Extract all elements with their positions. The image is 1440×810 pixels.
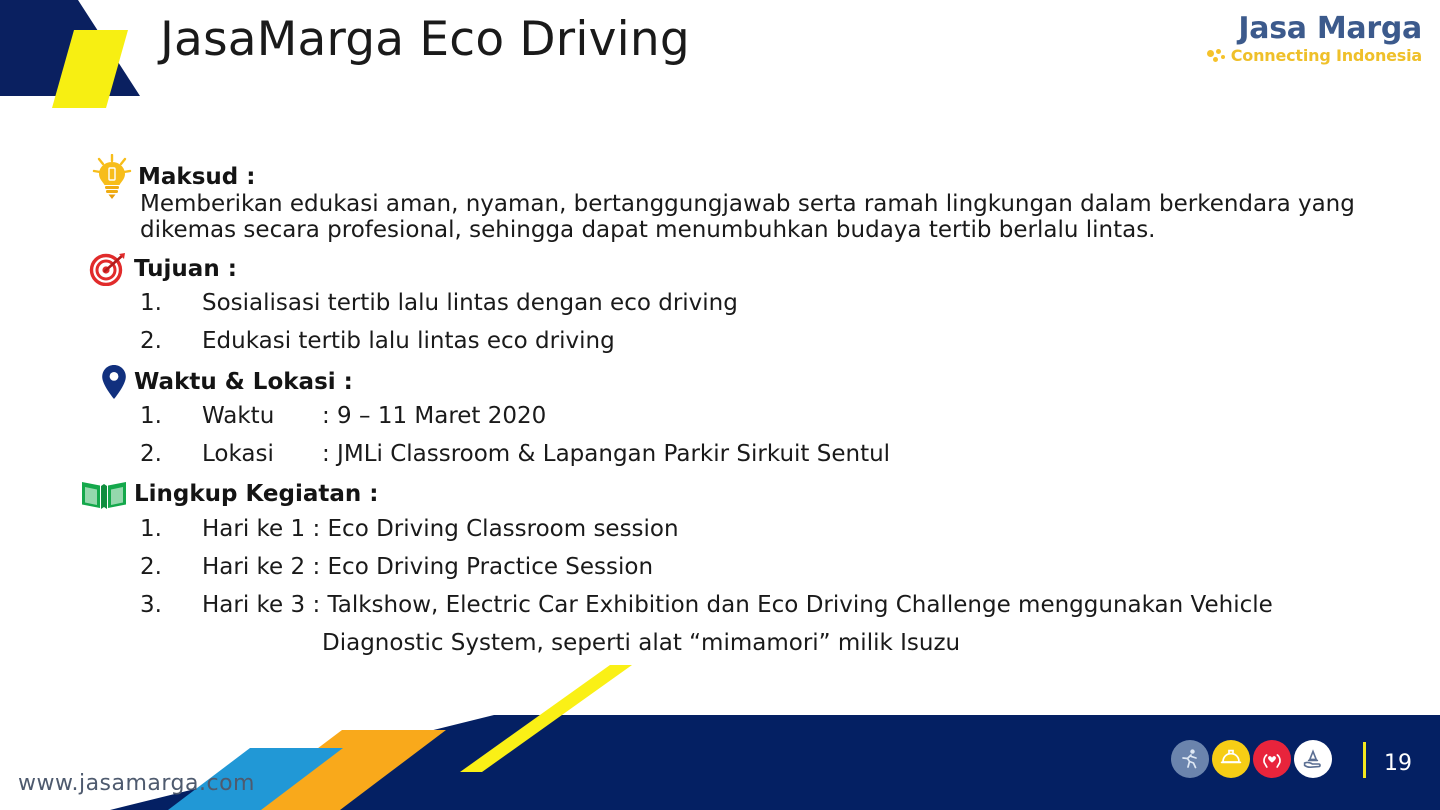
slide-content: Maksud : Memberikan edukasi aman, nyaman… — [0, 96, 1440, 666]
page-title: JasaMarga Eco Driving — [160, 12, 690, 67]
list-item-text: Hari ke 3 : Talkshow, Electric Car Exhib… — [202, 592, 1273, 618]
list-item-text: Edukasi tertib lalu lintas eco driving — [202, 328, 615, 354]
list-item-number: 2. — [140, 328, 202, 354]
maksud-paragraph-line2: dikemas secara profesional, sehingga dap… — [140, 218, 1380, 244]
footer-website-url[interactable]: www.jasamarga.com — [18, 771, 255, 796]
logo-wordmark: Jasa Marga — [1207, 14, 1422, 44]
footer-badge-group — [1171, 740, 1332, 778]
list-item-number: 2. — [140, 441, 202, 467]
maksud-paragraph: Memberikan edukasi aman, nyaman, bertang… — [140, 192, 1380, 244]
list-item-number: 1. — [140, 403, 202, 429]
list-item: 2. Edukasi tertib lalu lintas eco drivin… — [140, 328, 1400, 366]
slide-header: JasaMarga Eco Driving Jasa Marga Connect… — [0, 0, 1440, 96]
list-item-text: Sosialisasi tertib lalu lintas dengan ec… — [202, 290, 738, 316]
list-item-key: Lokasi — [202, 441, 322, 467]
list-item: 1. Waktu : 9 – 11 Maret 2020 — [140, 403, 1400, 441]
waktu-lokasi-list: 1. Waktu : 9 – 11 Maret 2020 2. Lokasi :… — [140, 403, 1400, 479]
list-item-continuation: Diagnostic System, seperti alat “mimamor… — [140, 630, 1400, 668]
hard-hat-badge-icon — [1212, 740, 1250, 778]
section-heading-waktu-lokasi: Waktu & Lokasi : — [100, 364, 353, 400]
list-item: 3. Hari ke 3 : Talkshow, Electric Car Ex… — [140, 592, 1400, 630]
list-item-value: : 9 – 11 Maret 2020 — [322, 403, 546, 429]
section-heading-lingkup: Lingkup Kegiatan : — [80, 478, 379, 510]
list-item: 1. Hari ke 1 : Eco Driving Classroom ses… — [140, 516, 1400, 554]
heart-in-hands-badge-icon — [1253, 740, 1291, 778]
list-item-text: Hari ke 2 : Eco Driving Practice Session — [202, 554, 653, 580]
footer-divider — [1363, 742, 1366, 778]
slide-footer: www.jasamarga.com — [0, 665, 1440, 810]
list-item-text: Hari ke 1 : Eco Driving Classroom sessio… — [202, 516, 679, 542]
hand-cone-badge-icon — [1294, 740, 1332, 778]
section-label-maksud: Maksud : — [138, 164, 255, 190]
list-item-number: 1. — [140, 516, 202, 542]
tujuan-list: 1. Sosialisasi tertib lalu lintas dengan… — [140, 290, 1400, 366]
target-icon — [88, 252, 128, 286]
section-label-lingkup: Lingkup Kegiatan : — [134, 481, 379, 507]
logo-tagline-row: Connecting Indonesia — [1207, 48, 1422, 64]
list-item: 2. Hari ke 2 : Eco Driving Practice Sess… — [140, 554, 1400, 592]
open-book-icon — [80, 478, 128, 510]
section-label-tujuan: Tujuan : — [134, 256, 237, 282]
section-label-waktu-lokasi: Waktu & Lokasi : — [134, 369, 353, 395]
logo-dots-icon — [1207, 49, 1227, 63]
section-heading-tujuan: Tujuan : — [88, 252, 237, 286]
page-number: 19 — [1384, 751, 1412, 776]
runner-badge-icon — [1171, 740, 1209, 778]
maksud-paragraph-line1: Memberikan edukasi aman, nyaman, bertang… — [140, 191, 1355, 217]
list-item-number: 2. — [140, 554, 202, 580]
list-item: 2. Lokasi : JMLi Classroom & Lapangan Pa… — [140, 441, 1400, 479]
map-pin-icon — [100, 364, 128, 400]
list-item-number: 3. — [140, 592, 202, 618]
list-item: 1. Sosialisasi tertib lalu lintas dengan… — [140, 290, 1400, 328]
jasa-marga-logo: Jasa Marga Connecting Indonesia — [1207, 14, 1422, 64]
lingkup-list: 1. Hari ke 1 : Eco Driving Classroom ses… — [140, 516, 1400, 668]
list-item-number: 1. — [140, 290, 202, 316]
list-item-key: Waktu — [202, 403, 322, 429]
logo-tagline: Connecting Indonesia — [1231, 48, 1422, 64]
list-item-value: : JMLi Classroom & Lapangan Parkir Sirku… — [322, 441, 890, 467]
lightbulb-icon — [92, 154, 132, 200]
